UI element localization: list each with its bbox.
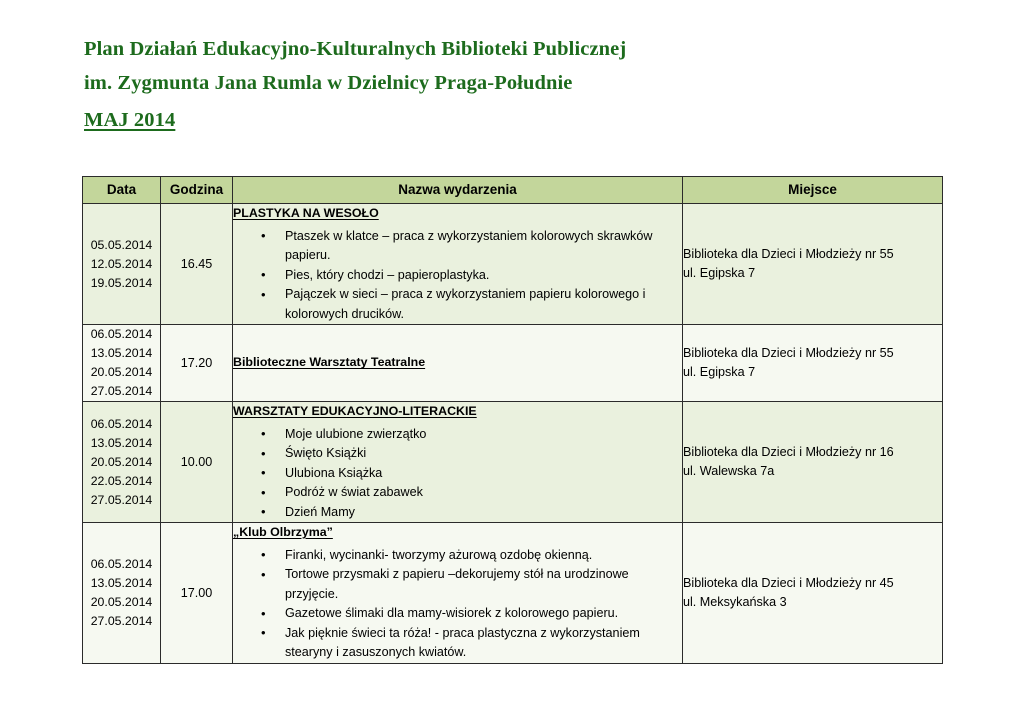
event-item: Dzień Mamy [261, 503, 682, 523]
schedule-table-wrapper: Data Godzina Nazwa wydarzenia Miejsce 05… [82, 176, 942, 664]
event-title: PLASTYKA NA WESOŁO [233, 204, 379, 224]
event-item: Pajączek w sieci – praca z wykorzystanie… [261, 285, 682, 324]
date-value: 13.05.2014 [83, 344, 160, 363]
table-header: Data Godzina Nazwa wydarzenia Miejsce [83, 177, 943, 204]
document-page: Plan Działań Edukacyjno-Kulturalnych Bib… [0, 0, 1024, 724]
event-item: Tortowe przysmaki z papieru –dekorujemy … [261, 565, 682, 604]
event-item-list: Ptaszek w klatce – praca z wykorzystanie… [233, 227, 682, 325]
table-body: 05.05.201412.05.201419.05.201416.45PLAST… [83, 204, 943, 664]
cell-dates: 05.05.201412.05.201419.05.2014 [83, 204, 161, 325]
event-title: WARSZTATY EDUKACYJNO-LITERACKIE [233, 402, 477, 422]
date-value: 06.05.2014 [83, 555, 160, 574]
place-line: Biblioteka dla Dzieci i Młodzieży nr 55 [683, 344, 942, 363]
cell-event: WARSZTATY EDUKACYJNO-LITERACKIEMoje ulub… [233, 402, 683, 523]
date-value: 27.05.2014 [83, 382, 160, 401]
cell-time: 17.20 [161, 325, 233, 402]
date-value: 13.05.2014 [83, 434, 160, 453]
event-title: „Klub Olbrzyma” [233, 523, 333, 543]
date-value: 13.05.2014 [83, 574, 160, 593]
place-line: Biblioteka dla Dzieci i Młodzieży nr 55 [683, 245, 942, 264]
cell-place: Biblioteka dla Dzieci i Młodzieży nr 45u… [683, 523, 943, 664]
cell-place: Biblioteka dla Dzieci i Młodzieży nr 55u… [683, 325, 943, 402]
event-title: Biblioteczne Warsztaty Teatralne [233, 353, 425, 373]
cell-event: „Klub Olbrzyma”Firanki, wycinanki- tworz… [233, 523, 683, 664]
cell-dates: 06.05.201413.05.201420.05.201422.05.2014… [83, 402, 161, 523]
document-heading: Plan Działań Edukacyjno-Kulturalnych Bib… [84, 32, 954, 137]
date-value: 20.05.2014 [83, 363, 160, 382]
date-value: 06.05.2014 [83, 325, 160, 344]
cell-dates: 06.05.201413.05.201420.05.201427.05.2014 [83, 325, 161, 402]
cell-time: 10.00 [161, 402, 233, 523]
event-item-list: Firanki, wycinanki- tworzymy ażurową ozd… [233, 546, 682, 663]
heading-month: MAJ 2014 [84, 103, 954, 137]
table-row: 05.05.201412.05.201419.05.201416.45PLAST… [83, 204, 943, 325]
place-line: ul. Egipska 7 [683, 363, 942, 382]
date-value: 05.05.2014 [83, 236, 160, 255]
event-item: Podróż w świat zabawek [261, 483, 682, 503]
schedule-table: Data Godzina Nazwa wydarzenia Miejsce 05… [82, 176, 943, 664]
date-value: 12.05.2014 [83, 255, 160, 274]
event-item: Ptaszek w klatce – praca z wykorzystanie… [261, 227, 682, 266]
place-line: Biblioteka dla Dzieci i Młodzieży nr 45 [683, 574, 942, 593]
place-line: Biblioteka dla Dzieci i Młodzieży nr 16 [683, 443, 942, 462]
event-item: Święto Książki [261, 444, 682, 464]
event-item-list: Moje ulubione zwierzątkoŚwięto KsiążkiUl… [233, 425, 682, 523]
date-value: 27.05.2014 [83, 491, 160, 510]
column-header-nazwa-wydarzenia: Nazwa wydarzenia [233, 177, 683, 204]
heading-line-1: Plan Działań Edukacyjno-Kulturalnych Bib… [84, 32, 954, 66]
date-value: 27.05.2014 [83, 612, 160, 631]
table-row: 06.05.201413.05.201420.05.201422.05.2014… [83, 402, 943, 523]
column-header-miejsce: Miejsce [683, 177, 943, 204]
date-value: 22.05.2014 [83, 472, 160, 491]
event-item: Pies, który chodzi – papieroplastyka. [261, 266, 682, 286]
cell-place: Biblioteka dla Dzieci i Młodzieży nr 55u… [683, 204, 943, 325]
event-item: Moje ulubione zwierzątko [261, 425, 682, 445]
date-value: 19.05.2014 [83, 274, 160, 293]
place-line: ul. Walewska 7a [683, 462, 942, 481]
place-line: ul. Egipska 7 [683, 264, 942, 283]
event-item: Ulubiona Książka [261, 464, 682, 484]
date-value: 06.05.2014 [83, 415, 160, 434]
cell-event: Biblioteczne Warsztaty Teatralne [233, 325, 683, 402]
cell-time: 16.45 [161, 204, 233, 325]
event-item: Firanki, wycinanki- tworzymy ażurową ozd… [261, 546, 682, 566]
table-row: 06.05.201413.05.201420.05.201427.05.2014… [83, 523, 943, 664]
cell-event: PLASTYKA NA WESOŁOPtaszek w klatce – pra… [233, 204, 683, 325]
date-value: 20.05.2014 [83, 593, 160, 612]
column-header-godzina: Godzina [161, 177, 233, 204]
table-header-row: Data Godzina Nazwa wydarzenia Miejsce [83, 177, 943, 204]
heading-line-2: im. Zygmunta Jana Rumla w Dzielnicy Prag… [84, 66, 954, 100]
event-item: Gazetowe ślimaki dla mamy-wisiorek z kol… [261, 604, 682, 624]
cell-time: 17.00 [161, 523, 233, 664]
cell-dates: 06.05.201413.05.201420.05.201427.05.2014 [83, 523, 161, 664]
table-row: 06.05.201413.05.201420.05.201427.05.2014… [83, 325, 943, 402]
cell-place: Biblioteka dla Dzieci i Młodzieży nr 16u… [683, 402, 943, 523]
place-line: ul. Meksykańska 3 [683, 593, 942, 612]
event-item: Jak pięknie świeci ta róża! - praca plas… [261, 624, 682, 663]
date-value: 20.05.2014 [83, 453, 160, 472]
column-header-data: Data [83, 177, 161, 204]
